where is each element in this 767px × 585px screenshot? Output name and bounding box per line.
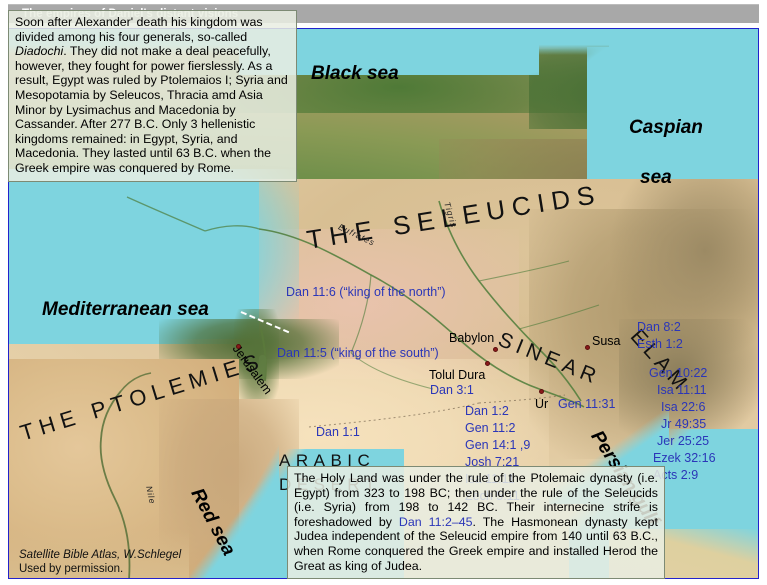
label-the-ptolemies: THE PTOLEMIES [17, 347, 267, 446]
ref-elam-1[interactable]: Esth 1:2 [637, 337, 683, 351]
ref-right-3[interactable]: Jr 49:35 [661, 417, 706, 431]
ref-center-0[interactable]: Dan 1:2 [465, 404, 509, 418]
credit-line-1: Satellite Bible Atlas, W.Schlegel [19, 548, 181, 562]
note-box-diadochi-text: Soon after Alexander' death his kingdom … [15, 15, 288, 175]
city-dot-susa [585, 345, 590, 350]
ref-jerusalem-area[interactable]: Dan 1:1 [316, 425, 360, 439]
note-italic-diadochi: Diadochi [15, 44, 63, 58]
ref-ur[interactable]: Gen 11:31 [558, 397, 615, 411]
iranian-plateau [609, 179, 758, 359]
city-dot-babylon-secondary [485, 361, 490, 366]
ref-right-2[interactable]: Isa 22:6 [661, 400, 705, 414]
label-caspian-sea-line1: Caspian [629, 117, 703, 139]
map-credit: Satellite Bible Atlas, W.Schlegel Used b… [19, 548, 181, 576]
note-box-holy-land: The Holy Land was under the rule of the … [287, 466, 665, 579]
label-red-sea: Red sea [186, 485, 240, 560]
app-root: The empires of Daniel's distant visions [0, 0, 767, 585]
ref-king-of-the-north[interactable]: Dan 11:6 (“king of the north”) [286, 285, 446, 299]
label-babylon: Babylon [449, 331, 494, 345]
label-black-sea: Black sea [311, 63, 399, 85]
note-box-diadochi: Soon after Alexander' death his kingdom … [8, 10, 297, 182]
note-box-holy-land-text: The Holy Land was under the rule of the … [294, 471, 658, 573]
label-sinear: SINEAR [495, 328, 604, 391]
ref-right-1[interactable]: Isa 11:11 [657, 383, 707, 397]
ref-right-5[interactable]: Ezek 32:16 [653, 451, 716, 465]
ref-right-4[interactable]: Jer 25:25 [657, 434, 709, 448]
ref-center-1[interactable]: Gen 11:2 [465, 421, 516, 435]
ref-elam-0[interactable]: Dan 8:2 [637, 320, 681, 334]
label-mediterranean-sea: Mediterranean sea [42, 299, 209, 321]
ref-right-0[interactable]: Gen 10:22 [649, 366, 707, 380]
ref-king-of-the-south[interactable]: Dan 11:5 (“king of the south”) [277, 346, 439, 360]
label-susa: Susa [592, 334, 621, 348]
city-dot-babylon [493, 347, 498, 352]
credit-line-2: Used by permission. [19, 562, 181, 576]
caucasus-ridge [529, 39, 758, 129]
label-ur: Ur [535, 397, 548, 411]
label-tolul-dura: Tolul Dura [429, 368, 485, 382]
label-nile: Nile [144, 485, 158, 505]
label-caspian-sea-line2: sea [640, 167, 672, 189]
city-dot-ur [539, 389, 544, 394]
ref-center-2[interactable]: Gen 14:1 ,9 [465, 438, 530, 452]
ref-tolul-dura[interactable]: Dan 3:1 [430, 383, 474, 397]
ref-dan-11-2-45[interactable]: Dan 11:2–45 [399, 515, 473, 529]
city-dot-jerusalem [236, 344, 241, 349]
caspian-sea-water [587, 47, 758, 232]
boundary-dashed-line [241, 311, 290, 333]
